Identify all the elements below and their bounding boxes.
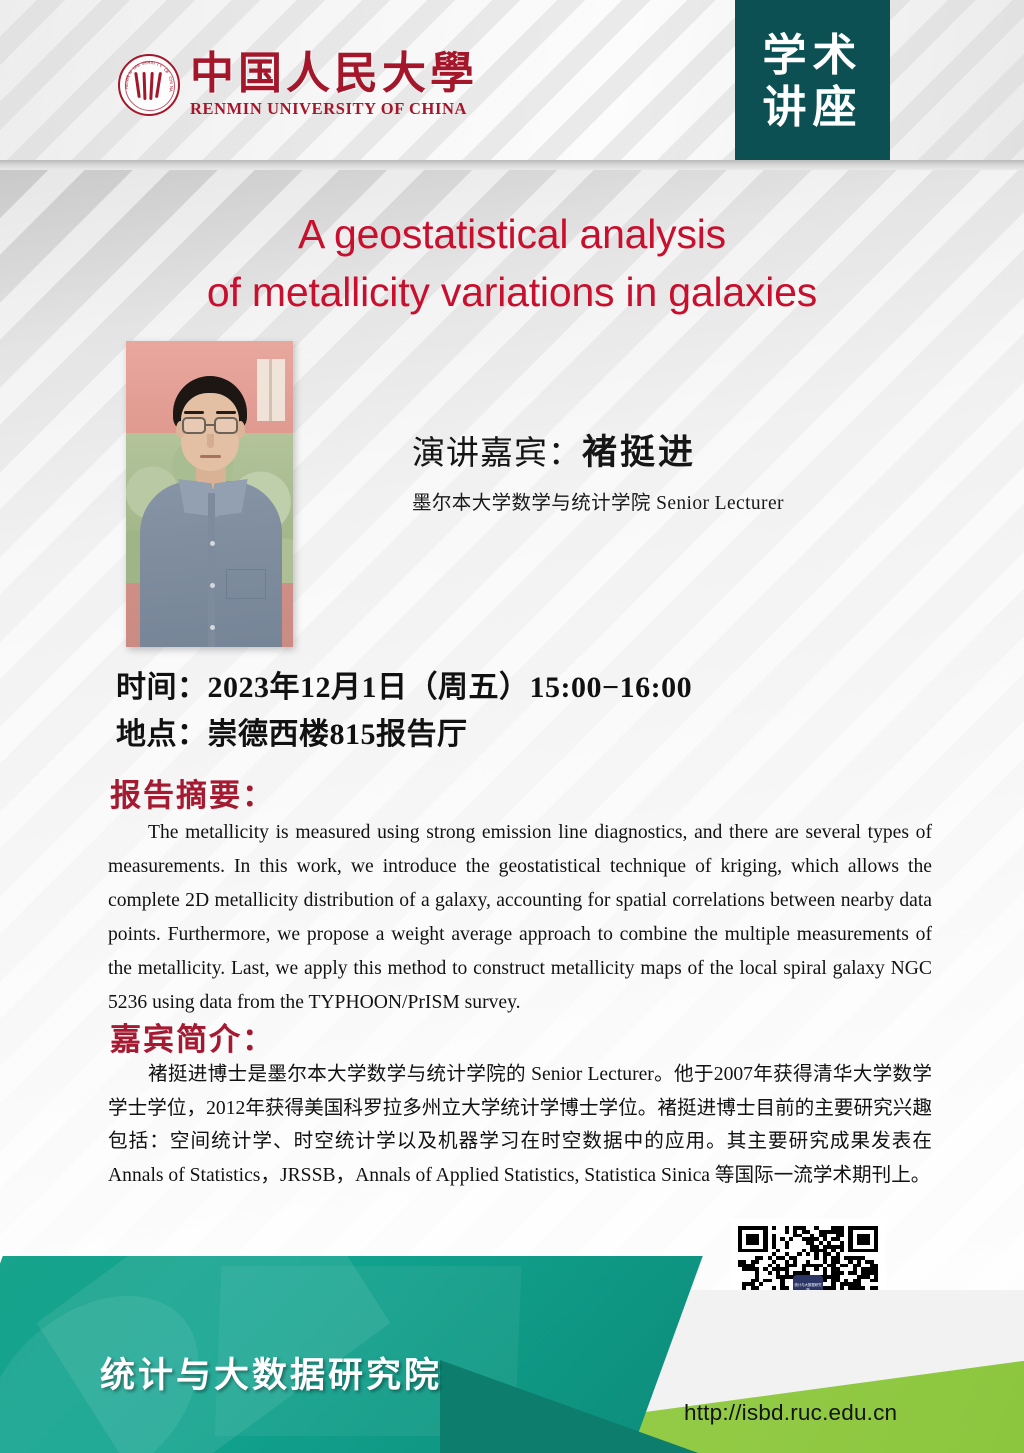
speaker-affiliation: 墨尔本大学数学与统计学院 Senior Lecturer [412, 486, 784, 515]
talk-title-line-1: A geostatistical analysis [0, 205, 1024, 263]
talk-title-line-2: of metallicity variations in galaxies [0, 263, 1024, 321]
abstract-heading: 报告摘要： [110, 770, 275, 815]
university-name-cn: 中国人民大學 [190, 52, 478, 97]
university-logo: RENMIN UNIVERSITY OF CHINA 中国人民大學 RENMIN… [118, 52, 478, 119]
speaker-label: 演讲嘉宾： [412, 436, 582, 472]
bio-heading: 嘉宾简介： [110, 1014, 275, 1059]
institute-url: http://isbd.ruc.edu.cn [684, 1400, 897, 1426]
academic-lecture-badge: 学术 讲座 [735, 0, 890, 163]
university-wordmark: 中国人民大學 RENMIN UNIVERSITY OF CHINA [190, 52, 478, 119]
seal-waves-icon [134, 72, 164, 98]
badge-line-2: 讲座 [763, 83, 863, 132]
badge-line-1: 学术 [763, 31, 863, 80]
poster-header: RENMIN UNIVERSITY OF CHINA 中国人民大學 RENMIN… [0, 0, 1024, 160]
abstract-body: The metallicity is measured using strong… [108, 816, 932, 1020]
talk-time: 时间：2023年12月1日（周五）15:00−16:00 [116, 662, 692, 706]
university-seal-icon: RENMIN UNIVERSITY OF CHINA [118, 54, 180, 116]
seminar-poster: RENMIN UNIVERSITY OF CHINA 中国人民大學 RENMIN… [0, 0, 1024, 1453]
header-divider [0, 160, 1024, 170]
university-name-en: RENMIN UNIVERSITY OF CHINA [190, 99, 478, 119]
speaker-photo [126, 341, 293, 647]
speaker-line: 演讲嘉宾：褚挺进 [412, 424, 696, 475]
institute-name: 统计与大数据研究院 [100, 1347, 442, 1398]
bio-body: 褚挺进博士是墨尔本大学数学与统计学院的 Senior Lecturer。他于20… [108, 1058, 932, 1192]
speaker-name: 褚挺进 [582, 433, 696, 472]
talk-location: 地点：崇德西楼815报告厅 [116, 709, 468, 753]
talk-title: A geostatistical analysis of metallicity… [0, 205, 1024, 321]
